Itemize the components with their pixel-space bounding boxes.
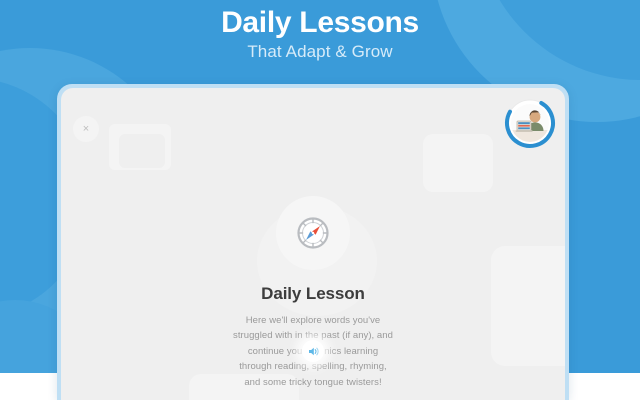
lesson-icon-halo <box>276 196 350 270</box>
compass-icon <box>295 215 331 251</box>
page-subtitle: That Adapt & Grow <box>0 39 640 62</box>
ghost-shape <box>423 134 493 192</box>
speaker-icon <box>307 345 320 358</box>
app-card: × <box>61 88 565 400</box>
header: Daily Lessons That Adapt & Grow <box>0 0 640 62</box>
close-button[interactable]: × <box>73 116 99 142</box>
lesson-description-line: Here we'll explore words you've <box>198 313 428 328</box>
close-icon: × <box>83 124 89 135</box>
device-frame: × <box>57 84 569 400</box>
page-title: Daily Lessons <box>0 0 640 39</box>
student-at-laptop-icon <box>511 104 549 142</box>
audio-play-button[interactable] <box>302 340 324 362</box>
lesson-description-line: and some tricky tongue twisters! <box>198 375 428 390</box>
profile-progress-widget[interactable] <box>503 96 557 150</box>
app-screenshot: Daily Lessons That Adapt & Grow × <box>0 0 640 400</box>
lesson-title: Daily Lesson <box>61 284 565 304</box>
ghost-shape <box>117 132 167 170</box>
avatar <box>511 104 549 142</box>
